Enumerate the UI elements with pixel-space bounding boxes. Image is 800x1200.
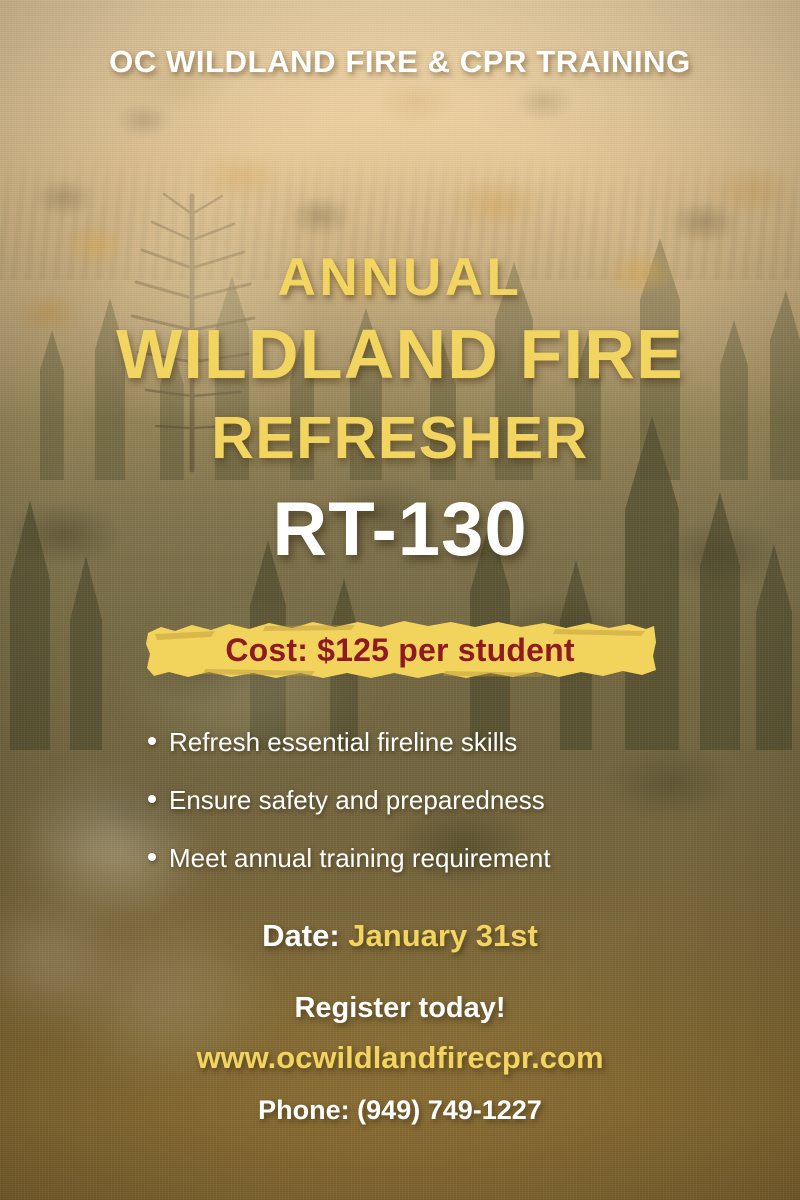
cost-banner: Cost: $125 per student <box>0 616 800 688</box>
bullet-dot-icon <box>148 853 156 861</box>
benefit-text: Meet annual training requirement <box>169 843 551 874</box>
headline-line-refresher: REFRESHER <box>0 404 800 472</box>
course-code: RT-130 <box>0 486 800 573</box>
bullet-dot-icon <box>148 795 156 803</box>
benefits-list: Refresh essential fireline skills Ensure… <box>0 727 800 874</box>
benefit-text: Refresh essential fireline skills <box>169 727 517 758</box>
list-item: Refresh essential fireline skills <box>0 727 800 758</box>
website-link[interactable]: www.ocwildlandfirecpr.com <box>0 1040 800 1076</box>
headline-line-annual: ANNUAL <box>0 247 800 308</box>
wildfire-training-poster: OC WILDLAND FIRE & CPR TRAINING ANNUAL W… <box>0 0 800 1200</box>
event-date: Date: January 31st <box>0 918 800 954</box>
call-to-action: Register today! <box>0 992 800 1025</box>
date-value: January 31st <box>348 918 538 953</box>
organization-title: OC WILDLAND FIRE & CPR TRAINING <box>0 44 800 80</box>
list-item: Ensure safety and preparedness <box>0 785 800 816</box>
cost-text: Cost: $125 per student <box>0 632 800 669</box>
date-label: Date: <box>262 918 340 953</box>
benefit-text: Ensure safety and preparedness <box>169 785 545 816</box>
poster-content: OC WILDLAND FIRE & CPR TRAINING ANNUAL W… <box>0 0 800 1200</box>
bullet-dot-icon <box>148 737 156 745</box>
phone-number[interactable]: Phone: (949) 749-1227 <box>0 1095 800 1126</box>
list-item: Meet annual training requirement <box>0 843 800 874</box>
headline-line-wildland-fire: WILDLAND FIRE <box>0 314 800 394</box>
